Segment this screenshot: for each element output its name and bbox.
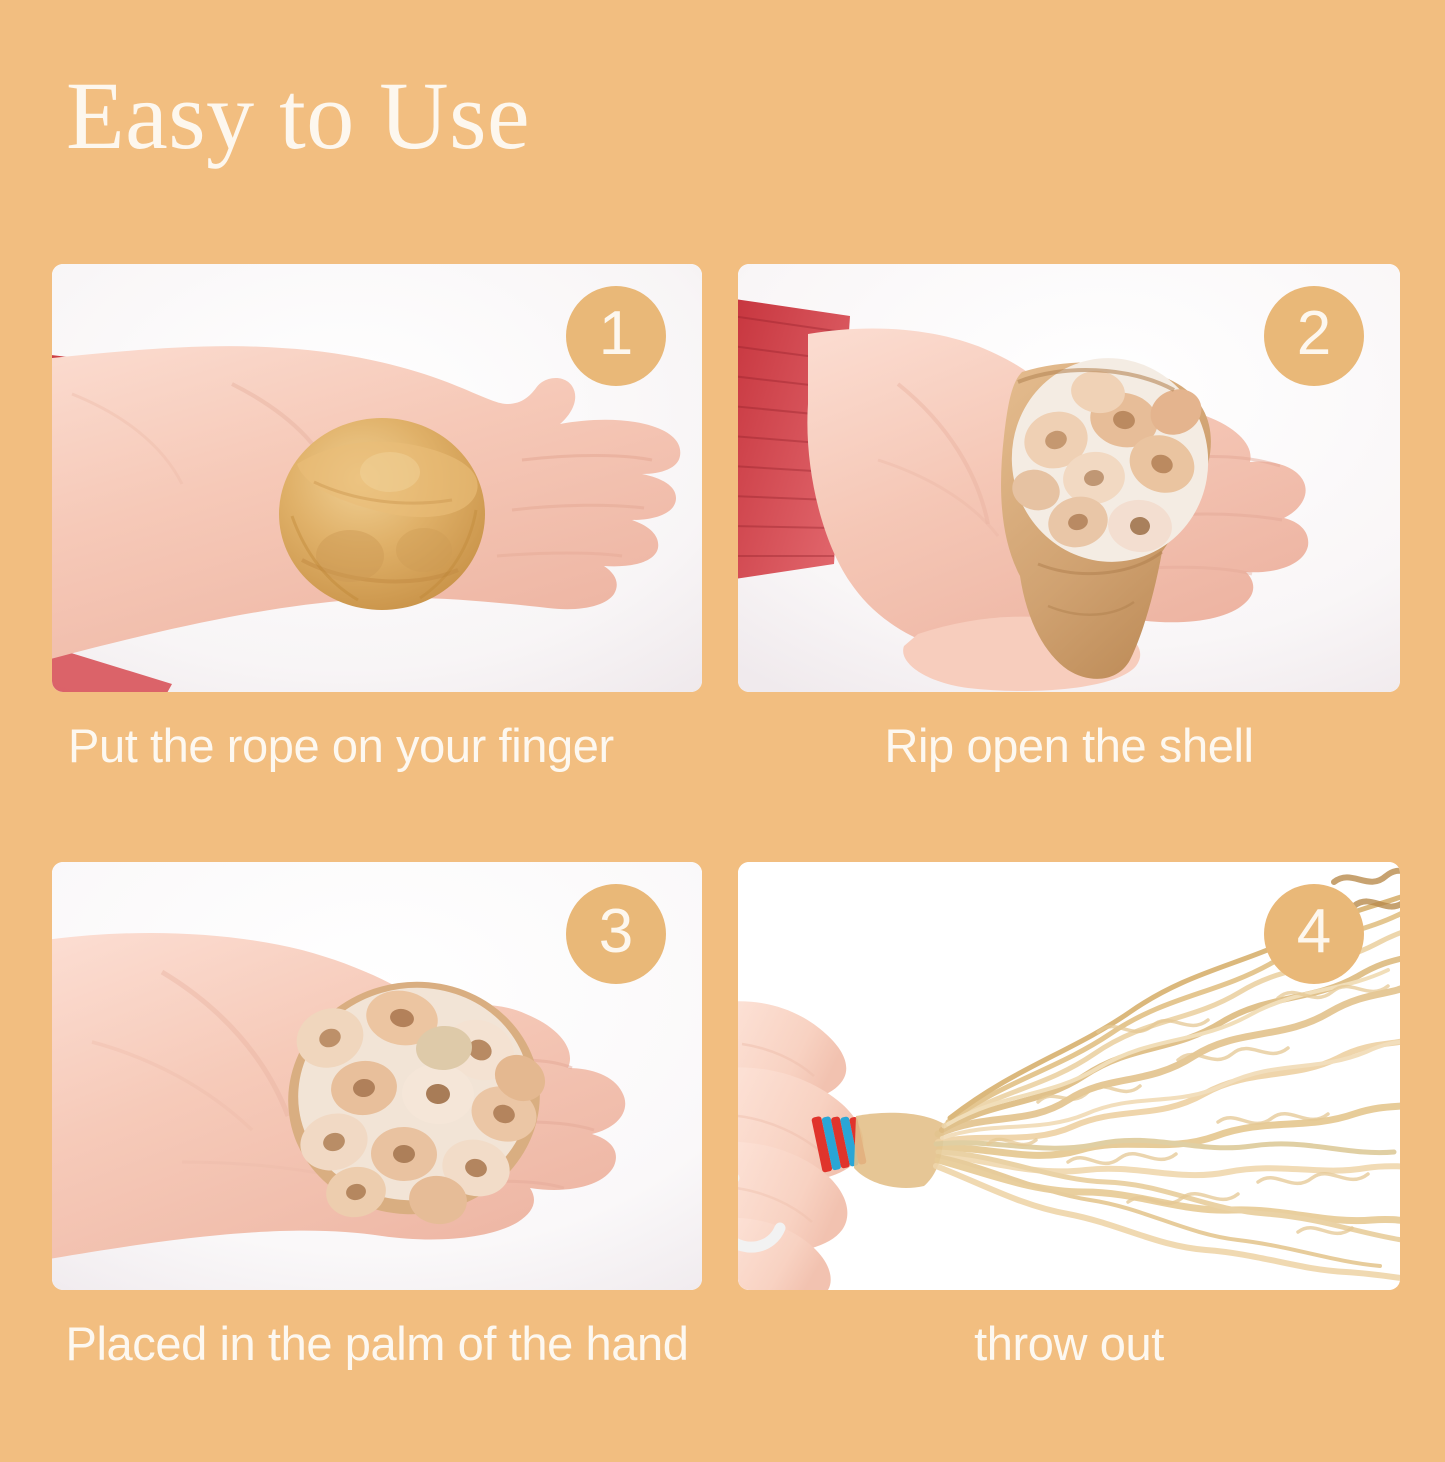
- step-number-3: 3: [599, 901, 633, 967]
- step-card-2: 2 Rip open the shell: [738, 264, 1400, 864]
- step-photo-1: 1: [52, 264, 702, 692]
- step-photo-3: 3: [52, 862, 702, 1290]
- step-number-2: 2: [1297, 303, 1331, 369]
- step-photo-4: 4: [738, 862, 1400, 1290]
- step-card-1: 1 Put the rope on your finger: [52, 264, 702, 864]
- steps-row-1: 1 Put the rope on your finger: [0, 264, 1445, 864]
- step-caption-4: throw out: [738, 1316, 1400, 1371]
- easy-to-use-infographic: Easy to Use: [0, 0, 1445, 1445]
- step-number-1: 1: [599, 303, 633, 369]
- step-card-4: 4 throw out: [738, 862, 1400, 1462]
- page-title: Easy to Use: [66, 68, 530, 164]
- step-caption-3: Placed in the palm of the hand: [52, 1316, 702, 1371]
- step-card-3: 3 Placed in the palm of the hand: [52, 862, 702, 1462]
- step-photo-2: 2: [738, 264, 1400, 692]
- step-caption-1: Put the rope on your finger: [52, 718, 702, 773]
- step-number-badge-1: 1: [566, 286, 666, 386]
- steps-row-2: 3 Placed in the palm of the hand: [0, 862, 1445, 1462]
- step-number-4: 4: [1297, 901, 1331, 967]
- step-number-badge-4: 4: [1264, 884, 1364, 984]
- step-caption-2: Rip open the shell: [738, 718, 1400, 773]
- step-number-badge-3: 3: [566, 884, 666, 984]
- step-number-badge-2: 2: [1264, 286, 1364, 386]
